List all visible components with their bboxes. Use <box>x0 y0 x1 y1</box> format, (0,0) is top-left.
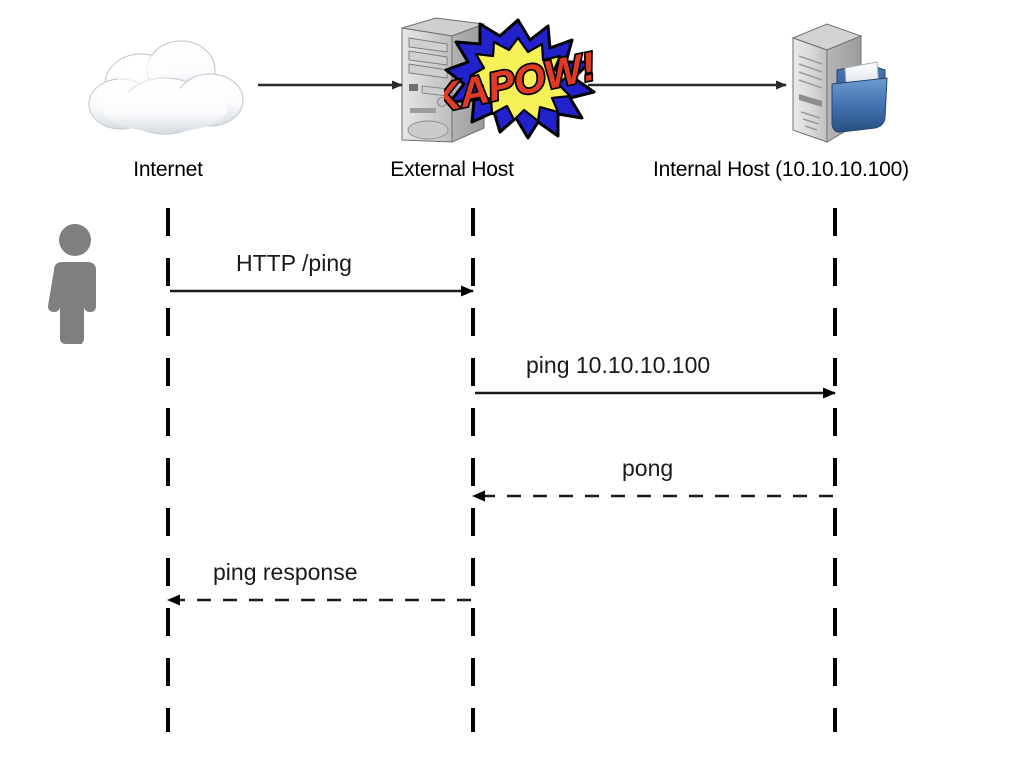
diagram-vector-layer <box>0 0 1024 768</box>
sequence-diagram-canvas: KAPOW! <box>0 0 1024 768</box>
message-label-pong: pong <box>622 455 673 482</box>
user-actor-icon <box>44 222 106 348</box>
message-label-http-ping: HTTP /ping <box>236 250 352 277</box>
message-label-ping-internal: ping 10.10.10.100 <box>526 352 710 379</box>
node-label-internal-host: Internal Host (10.10.10.100) <box>653 158 1013 182</box>
node-label-external-host: External Host <box>352 158 552 182</box>
node-label-internet: Internet <box>68 158 268 182</box>
message-label-ping-response: ping response <box>213 559 358 586</box>
